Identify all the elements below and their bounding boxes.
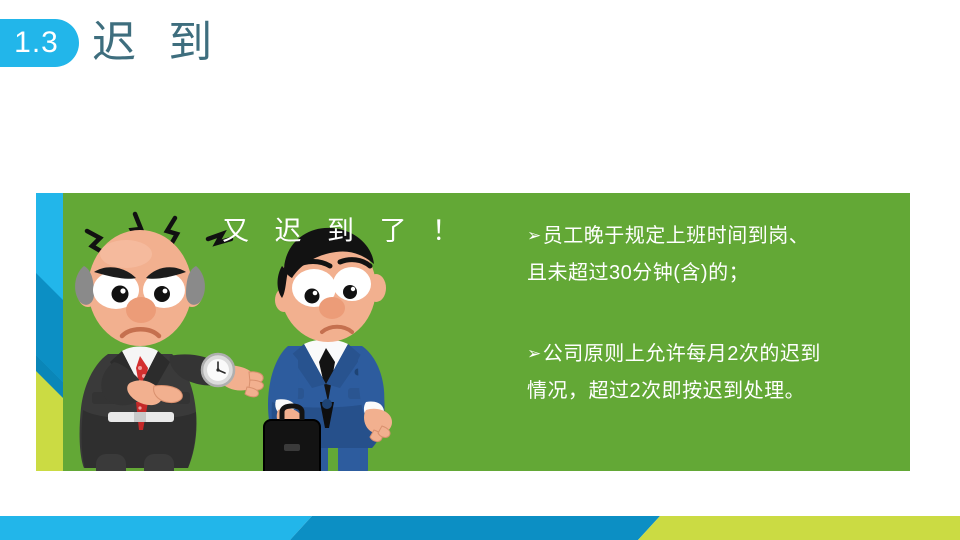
bullet-line-text: 情况，超过2次即按迟到处理。 (527, 380, 805, 402)
bullet-group-1: ➢员工晚于规定上班时间到岗、 且未超过30分钟(含)的； (527, 218, 887, 292)
page-title: 迟 到 (92, 14, 222, 72)
bullet-line-text: 员工晚于规定上班时间到岗、 (543, 225, 810, 247)
bullet-line: 且未超过30分钟(含)的； (527, 255, 887, 292)
bullet-group-2: ➢公司原则上允许每月2次的迟到 情况，超过2次即按迟到处理。 (527, 336, 887, 410)
bullet-line: 情况，超过2次即按迟到处理。 (527, 373, 887, 410)
section-number-text: 1.3 (14, 28, 65, 58)
slide-canvas: 1.3 迟 到 (0, 0, 960, 540)
bullet-line: ➢公司原则上允许每月2次的迟到 (527, 336, 887, 373)
bullet-list: ➢员工晚于规定上班时间到岗、 且未超过30分钟(含)的； ➢公司原则上允许每月2… (527, 218, 887, 410)
bullet-line: ➢员工晚于规定上班时间到岗、 (527, 218, 887, 255)
bullet-marker-icon: ➢ (527, 335, 542, 372)
figure-employee (264, 228, 392, 493)
bottom-accent-bar (0, 516, 960, 540)
bullet-line-text: 公司原则上允许每月2次的迟到 (543, 343, 821, 365)
bullet-marker-icon: ➢ (527, 217, 542, 254)
wristwatch (202, 354, 234, 386)
speech-text: 又 迟 到 了 ！ (222, 214, 468, 248)
figure-boss (75, 230, 263, 498)
section-number-badge: 1.3 (0, 19, 79, 67)
bullet-line-text: 且未超过30分钟(含)的； (527, 262, 749, 284)
